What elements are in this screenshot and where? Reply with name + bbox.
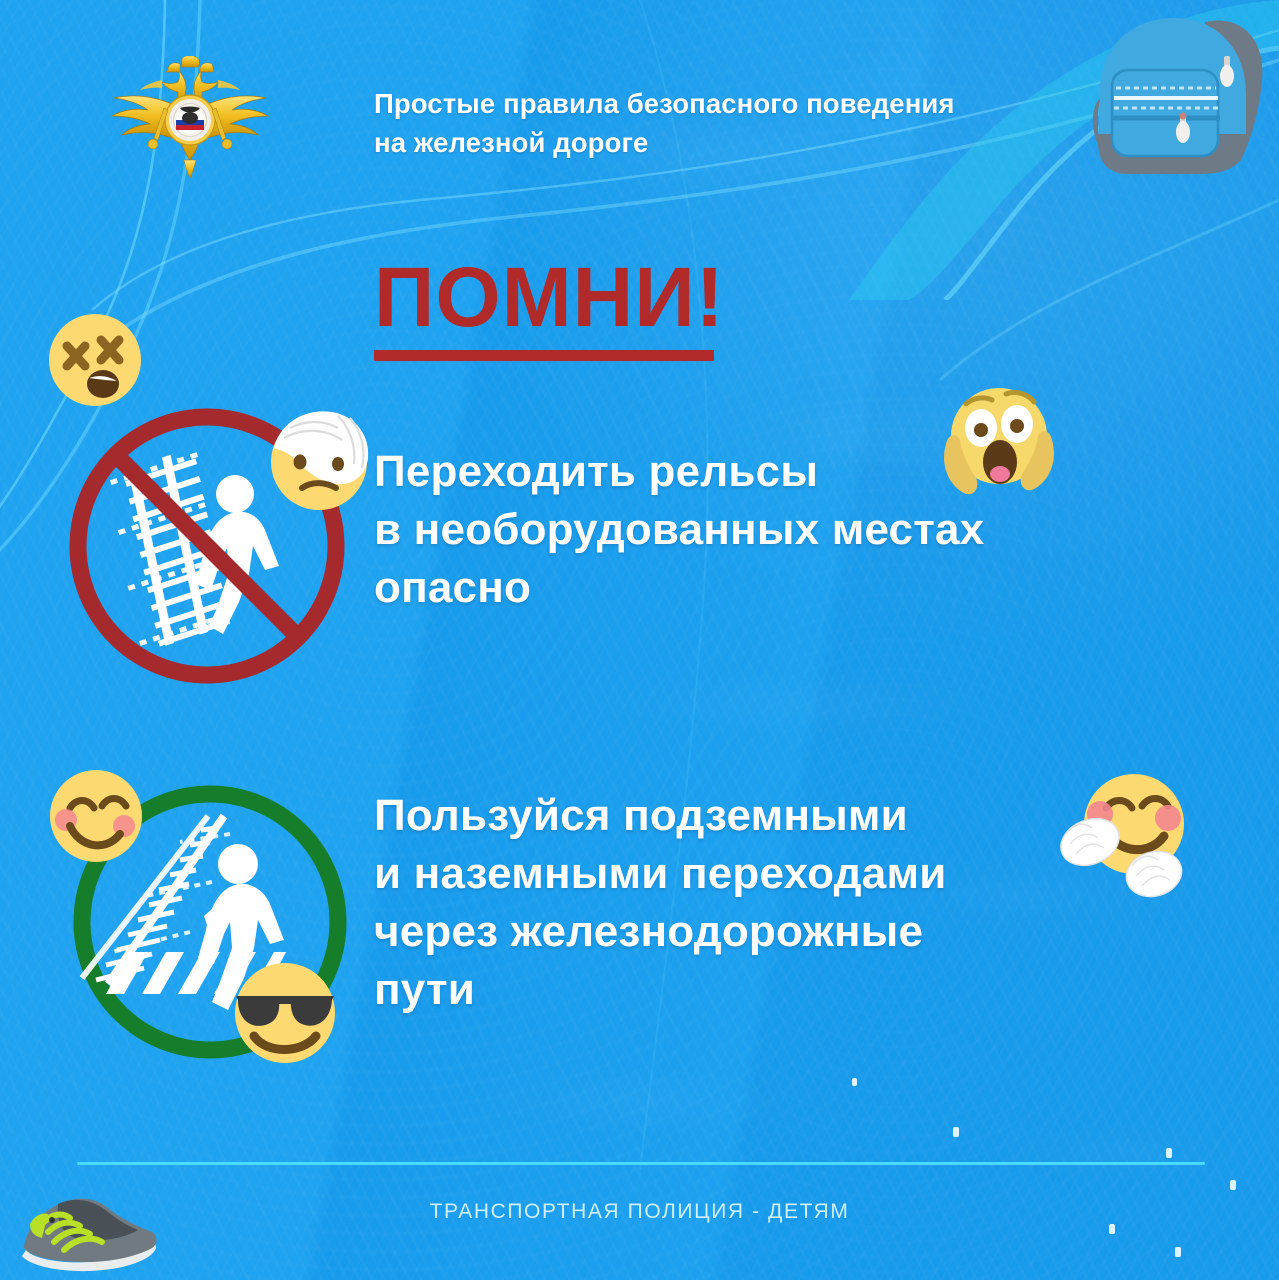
face-with-head-bandage-emoji [262, 402, 376, 516]
face-screaming-in-fear-emoji [938, 378, 1060, 500]
page-title: Простые правила безопасного поведения на… [374, 84, 1094, 162]
mvd-eagle-emblem [96, 56, 284, 186]
rule-2-text: Пользуйся подземными и наземными переход… [374, 787, 1174, 1019]
footer-divider [77, 1162, 1205, 1165]
rule-2-line-2: и наземными переходами [374, 845, 1174, 903]
decor-dot-6 [852, 1078, 857, 1086]
rule-2-line-3: через железнодорожные [374, 903, 1174, 961]
rule-2-line-1: Пользуйся подземными [374, 787, 1174, 845]
smiling-face-with-smiling-eyes-emoji [44, 764, 148, 868]
dizzy-face-emoji [45, 310, 145, 410]
remember-heading-block: ПОМНИ! [374, 258, 725, 361]
decor-dot-2 [1166, 1148, 1172, 1158]
remember-heading: ПОМНИ! [374, 258, 725, 338]
decor-dot-3 [1109, 1224, 1115, 1234]
sneaker-icon [12, 1176, 172, 1276]
footer-caption: ТРАНСПОРТНАЯ ПОЛИЦИЯ - ДЕТЯМ [0, 1200, 1279, 1224]
remember-underline [374, 350, 714, 361]
decor-dot-1 [953, 1127, 959, 1137]
title-line-1: Простые правила безопасного поведения [374, 84, 1094, 123]
backpack-icon [1070, 2, 1279, 192]
decor-dot-5 [1230, 1180, 1236, 1190]
decor-dot-4 [1175, 1247, 1181, 1257]
smiling-face-with-open-hands-emoji [1058, 762, 1204, 908]
poster-canvas: Простые правила безопасного поведения на… [0, 0, 1279, 1280]
smiling-face-with-sunglasses-emoji [224, 952, 346, 1074]
rule-1-line-2: в необорудованных местах [374, 501, 1164, 559]
rule-1-line-3: опасно [374, 559, 1164, 617]
rule-2-line-4: пути [374, 961, 1174, 1019]
title-line-2: на железной дороге [374, 123, 1094, 162]
